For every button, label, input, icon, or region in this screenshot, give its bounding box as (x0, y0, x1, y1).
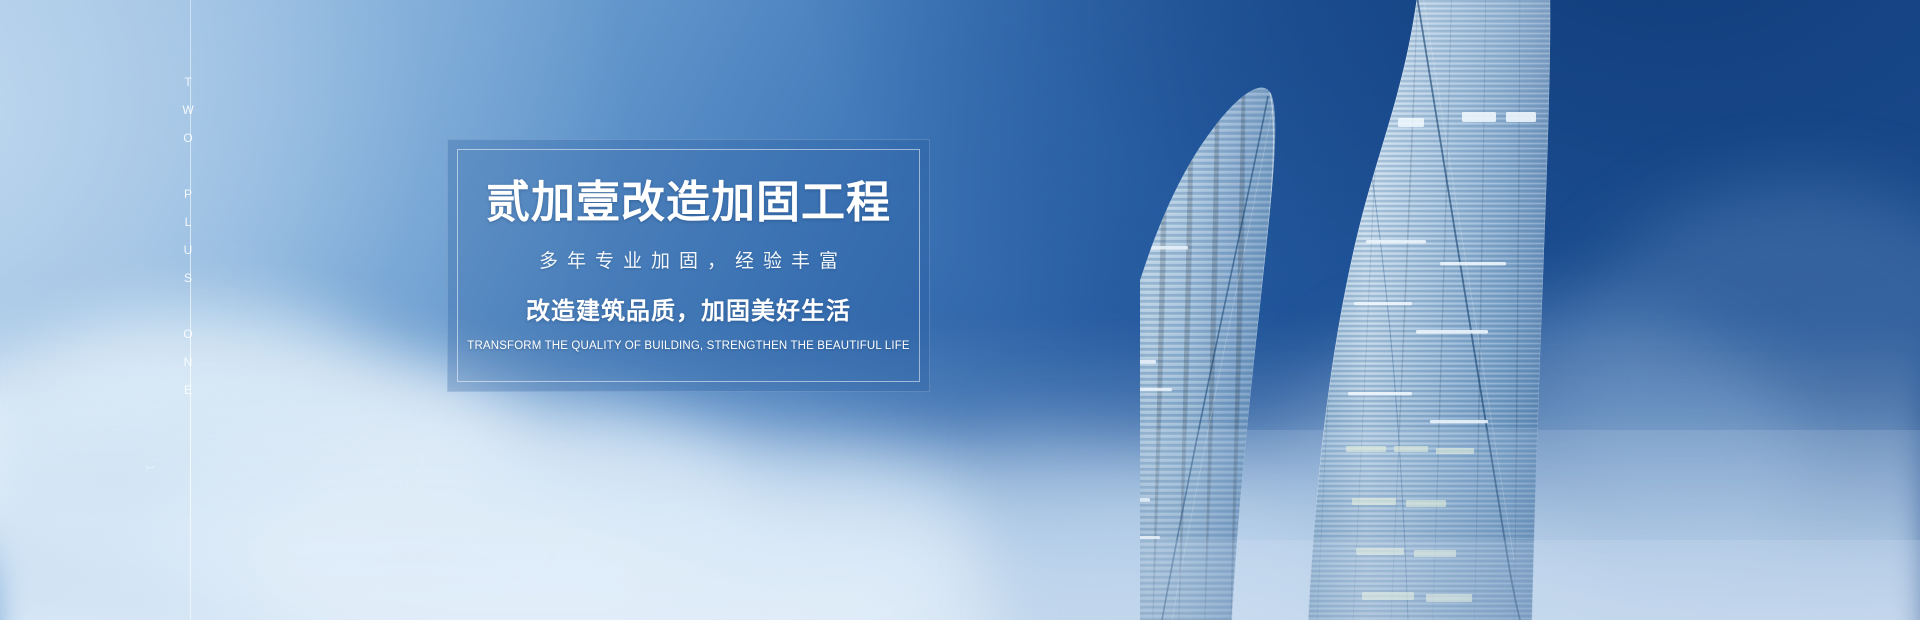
hero-headline: 贰加壹改造加固工程 (486, 178, 891, 227)
hero-subheadline: 多年专业加固，经验丰富 (530, 251, 847, 274)
hero-english-tagline: TRANSFORM THE QUALITY OF BUILDING, STREN… (467, 340, 909, 354)
hero-slogan: 改造建筑品质，加固美好生活 (526, 298, 851, 327)
skyscraper-illustration (1140, 0, 1920, 620)
hero-text-panel: 贰加壹改造加固工程 多年专业加固，经验丰富 改造建筑品质，加固美好生活 TRAN… (447, 139, 930, 392)
hero-banner: TWO PLUS ONE 1 贰加壹改造加固工程 多年专业加固，经验丰富 改造建… (0, 0, 1920, 620)
slide-number-mark: 1 (144, 464, 156, 471)
hero-panel-content: 贰加壹改造加固工程 多年专业加固，经验丰富 改造建筑品质，加固美好生活 TRAN… (448, 140, 929, 391)
brand-vertical-label: TWO PLUS ONE (182, 75, 194, 411)
